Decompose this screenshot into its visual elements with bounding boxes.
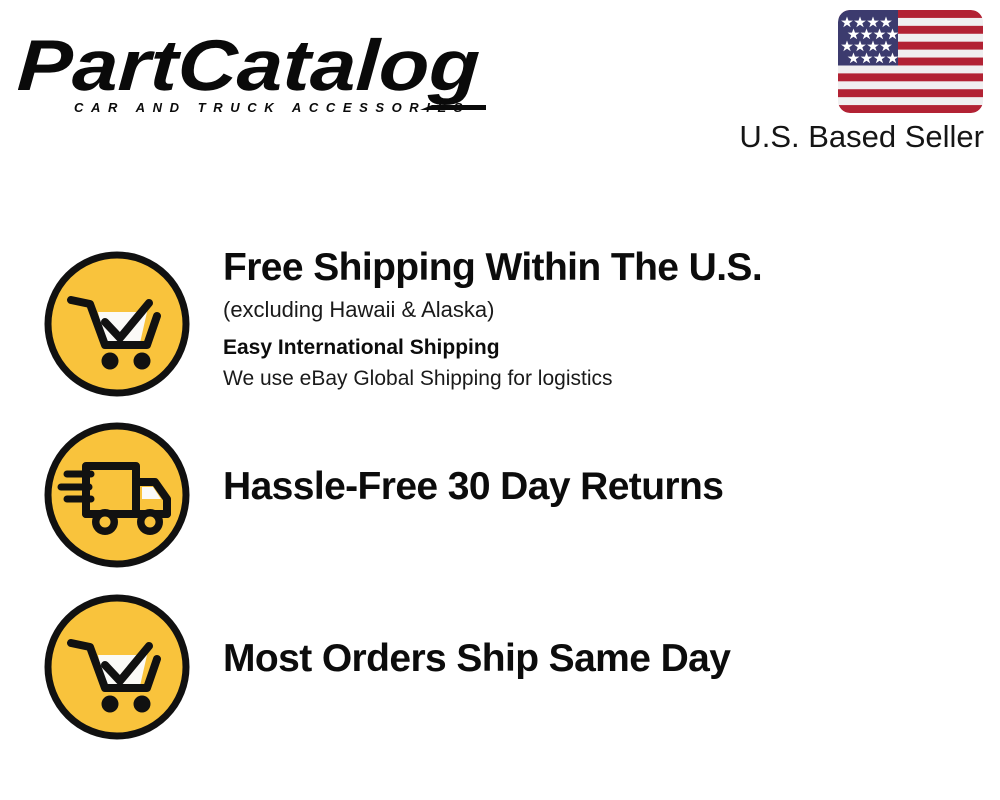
feature-row-free-shipping: Free Shipping Within The U.S. (excluding… xyxy=(0,244,1000,404)
feature-subtitle-bold: Easy International Shipping xyxy=(223,333,963,363)
us-flag-icon xyxy=(838,10,983,113)
feature-text-block: Free Shipping Within The U.S. (excluding… xyxy=(223,244,963,394)
feature-title: Hassle-Free 30 Day Returns xyxy=(223,463,963,511)
feature-row-returns: Hassle-Free 30 Day Returns xyxy=(0,415,1000,573)
feature-text-block: Most Orders Ship Same Day xyxy=(223,635,963,683)
feature-row-same-day-ship: Most Orders Ship Same Day xyxy=(0,587,1000,747)
feature-text-block: Hassle-Free 30 Day Returns xyxy=(223,463,963,511)
delivery-truck-icon xyxy=(43,421,191,569)
shopping-cart-check-icon xyxy=(43,593,191,741)
feature-subtitle: (excluding Hawaii & Alaska) xyxy=(223,294,963,326)
feature-title: Most Orders Ship Same Day xyxy=(223,635,963,683)
us-flag-svg xyxy=(838,10,983,113)
feature-subtitle-detail: We use eBay Global Shipping for logistic… xyxy=(223,364,963,394)
logo-wordmark-text: PartCatalog xyxy=(18,26,482,106)
feature-title: Free Shipping Within The U.S. xyxy=(223,244,963,292)
logo-wordmark: PartCatalog xyxy=(18,26,482,106)
page-header: PartCatalog CAR AND TRUCK ACCESSORIES xyxy=(0,0,1000,170)
us-based-seller-label: U.S. Based Seller xyxy=(500,118,984,156)
shopping-cart-check-icon xyxy=(43,250,191,398)
brand-logo[interactable]: PartCatalog CAR AND TRUCK ACCESSORIES xyxy=(18,22,488,117)
